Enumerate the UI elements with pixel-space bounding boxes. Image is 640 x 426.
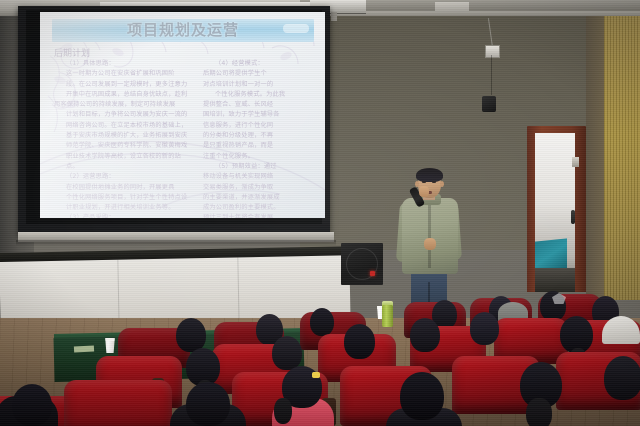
slide-text-line: 职业技术学院等高校，设立各校的新的站: [54, 152, 194, 161]
slide-text-line: 国培训，致力于学生辅导各: [203, 110, 315, 119]
student-head: [272, 336, 302, 370]
auditorium-seat: [64, 380, 172, 426]
student-head: [604, 356, 640, 400]
slide-text-line: （2）运营思路：: [54, 172, 194, 181]
slide-text-line: 注重个性化服务。: [203, 152, 315, 161]
slide-subtitle: 后期计划: [54, 46, 90, 59]
presenter-eye-right: [432, 181, 436, 183]
slide-text-line: 的分类和分级处理，不再: [203, 131, 315, 140]
slide-text-line: 对点培训计划和一对一的: [203, 80, 315, 89]
slide-text-line: 段。在公司发展到一定规模时，更多注意力: [54, 80, 194, 89]
slide-text-line: 这一时期为公司在安庆省扩展和巩固阶: [54, 69, 194, 78]
right-wall-edge: [586, 0, 604, 300]
projection-screen: 项目规划及运营 后期计划 （1）具体思路：这一时期为公司在安庆省扩展和巩固阶段。…: [40, 12, 325, 218]
slide-text-line: 计划和目标，力争将公司发展为安庆一流的: [54, 110, 194, 119]
presenter-ear-left: [415, 181, 419, 187]
wall-speaker-small: [482, 96, 496, 112]
slide-text-line: 开集中在巩固成果，总结自身优缺点，趁利: [54, 90, 194, 99]
door-handle-icon[interactable]: [571, 210, 575, 224]
slide-text-line: 计职业规划，开进行相关培训业务等。: [54, 203, 194, 212]
slide-text-line: 个性化网络服务项目，针对学生个性特点设: [54, 193, 194, 202]
slide-text-line: 预计三到十年将会有发展: [203, 213, 315, 218]
slide-text-line: （5）预期效益：通过: [203, 162, 315, 171]
right-tan-ribbed-panel: [604, 0, 640, 300]
slide-title-badge: [283, 24, 309, 33]
slide-text-line: 用客保持公司的持续发展，制定可持续发展: [54, 100, 194, 109]
slide-title-bar: 项目规划及运营: [52, 19, 314, 42]
presenter-ear-right: [440, 181, 444, 187]
slide-text-line: （3）产品采购：: [54, 213, 194, 218]
student-head: [344, 324, 375, 359]
wall-cable-lower: [491, 55, 492, 95]
slide-text-line: 移动设备与机关实现网络: [203, 172, 315, 181]
slide-text-line: 信息服务，进行个性化同: [203, 121, 315, 130]
slide-text-line: 点。: [54, 162, 194, 171]
presenter-hand-holding-mic: [419, 186, 429, 197]
projector-mount-post: [331, 12, 337, 21]
hair-tie: [312, 372, 320, 378]
student-head: [470, 312, 499, 345]
slide-text-line: 的主要渠道，并逐渐发展成: [203, 193, 315, 202]
slide-text-line: 网络咨询公司。在立足本校市场的基础上，: [54, 121, 194, 130]
presenter-eye-left: [422, 181, 426, 183]
student-head: [310, 308, 334, 336]
jacket-placket: [428, 202, 431, 268]
presenter: [398, 168, 464, 313]
door-latch-icon: [572, 157, 579, 167]
speaker-power-led-icon: [370, 271, 375, 276]
slide-text-line: （1）具体思路：: [54, 59, 194, 68]
presenter-free-hand: [424, 238, 436, 250]
slide-text-line: 成为公司盈利的主要模式。: [203, 203, 315, 212]
slide-left-column: （1）具体思路：这一时期为公司在安庆省扩展和巩固阶段。在公司发展到一定规模时，更…: [54, 59, 194, 218]
wainscot-seam: [117, 260, 119, 326]
slide-text-line: 在校园提供地摊业务的同时，开展更具: [54, 183, 194, 192]
lecture-hall-photo: 项目规划及运营 后期计划 （1）具体思路：这一时期为公司在安庆省扩展和巩固阶段。…: [0, 0, 640, 426]
presenter-hair: [416, 168, 443, 182]
side-doorway-frame[interactable]: [527, 126, 586, 292]
student-head: [186, 382, 230, 426]
student-head: [12, 384, 52, 426]
slide-right-column: （4）经营模式：后期公司将提供学生个对点培训计划和一对一的个性化服务模式。为此我…: [203, 59, 315, 218]
slide-text-line: 师范学院、安庆医药专科学院、安徽黄梅戏: [54, 141, 194, 150]
wall-jack-plate: [485, 45, 500, 58]
doorway-floor-shadow: [535, 268, 575, 292]
student-head: [176, 318, 206, 352]
teal-object-in-doorway: [535, 238, 567, 271]
slide-text-line: 是只重视热销产品，而是: [203, 141, 315, 150]
projection-screen-frame: 项目规划及运营 后期计划 （1）具体思路：这一时期为公司在安庆省扩展和巩固阶段。…: [18, 6, 330, 236]
doorway-opening: [535, 133, 575, 292]
slide-text-line: 提供整合、宣威、长风经: [203, 100, 315, 109]
paper-on-table: [74, 345, 94, 352]
ponytail: [274, 398, 292, 424]
wall-speaker: [341, 243, 383, 285]
wainscot-seam: [237, 257, 239, 323]
slide-title: 项目规划及运营: [52, 19, 314, 42]
ponytail: [526, 398, 552, 426]
ceiling-junction-box: [435, 2, 469, 13]
screen-drop-shadow: [16, 240, 336, 246]
slide-text-line: 个性化服务模式。为此我: [203, 90, 315, 99]
slide-text-line: 基于安庆市场规模的扩大，业务拓展到安庆: [54, 131, 194, 140]
slide-text-line: （4）经营模式：: [203, 59, 315, 68]
slide-text-line: 交易类服务，渐成为争取: [203, 183, 315, 192]
student-head: [400, 372, 444, 420]
green-thermos: [382, 305, 393, 327]
presenter-jacket: [402, 198, 458, 274]
student-head: [410, 318, 440, 352]
slide-text-line: 后期公司将提供学生个: [203, 69, 315, 78]
